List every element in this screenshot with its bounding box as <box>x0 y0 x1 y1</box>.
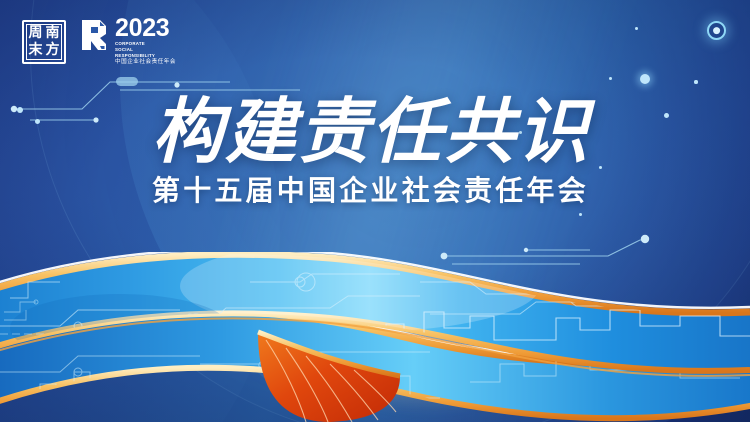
circuit-node-pill <box>116 77 138 86</box>
glow-ring-dot <box>707 21 726 40</box>
small-dot <box>694 80 698 84</box>
csr-chinese-name: 中国企业社会责任年会 <box>115 60 176 66</box>
logo-bar: 周 南 末 方 2023 CORPORATE <box>22 18 176 66</box>
glow-dot <box>640 74 650 84</box>
publisher-seal-logo[interactable]: 周 南 末 方 <box>22 20 66 64</box>
seal-char-2: 南 <box>44 25 61 42</box>
seal-char-4: 方 <box>44 42 61 59</box>
decorative-ribbon <box>0 252 750 422</box>
event-poster: 周 南 末 方 2023 CORPORATE <box>0 0 750 422</box>
seal-char-3: 末 <box>27 42 44 59</box>
main-title: 构建责任共识 <box>152 96 622 169</box>
small-dot <box>579 213 582 216</box>
small-dot <box>664 113 669 118</box>
small-dot <box>635 27 638 30</box>
csr-year: 2023 <box>115 18 176 40</box>
csr-event-logo[interactable]: 2023 CORPORATE SOCIAL RESPONSIBILITY 中国企… <box>80 18 176 66</box>
stylized-r-mark-icon <box>80 18 110 52</box>
csr-en-line-3: RESPONSIBILITY <box>115 53 176 59</box>
headline-block: 构建责任共识 第十五届中国企业社会责任年会 <box>152 96 622 205</box>
subtitle: 第十五届中国企业社会责任年会 <box>152 177 622 205</box>
small-dot <box>609 77 612 80</box>
seal-char-1: 周 <box>27 25 44 42</box>
csr-english-lines: CORPORATE SOCIAL RESPONSIBILITY <box>115 41 176 59</box>
